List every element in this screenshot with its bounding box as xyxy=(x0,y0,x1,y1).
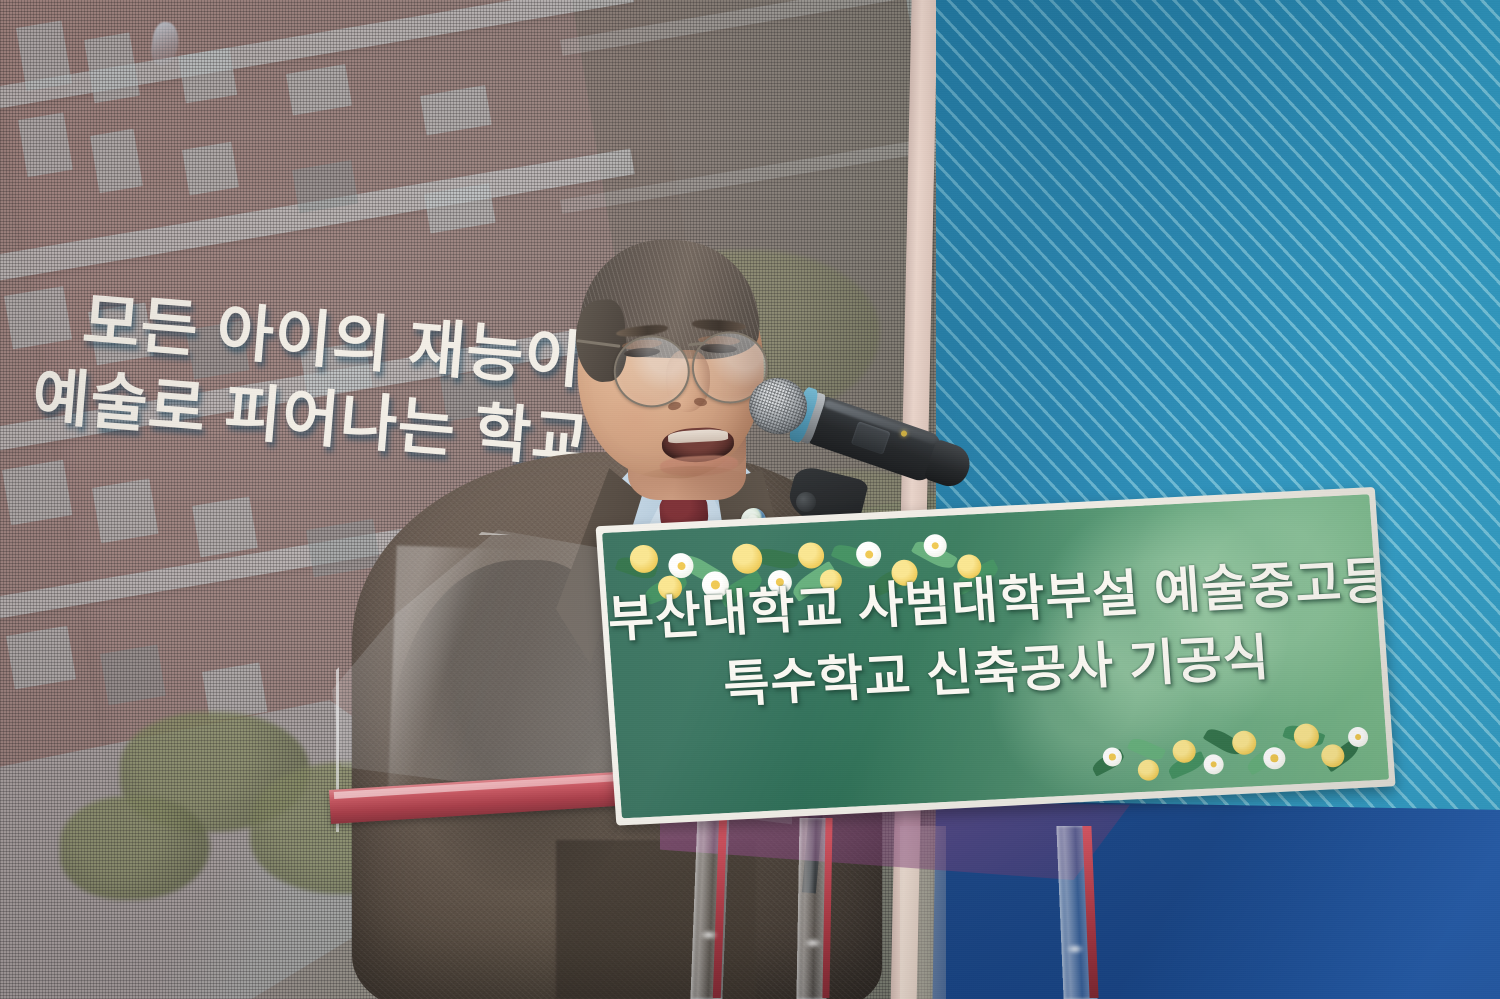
photo-canvas: 모든 아이의 재능이 예술로 피어나는 학교 xyxy=(0,0,1500,999)
podium-leg-glint xyxy=(804,938,822,948)
eyeglass-temple-arm xyxy=(577,339,621,347)
ceremony-sign-board: 부산대학교 사범대학부설 예술중고등 특수학교 신축공사 기공식 xyxy=(596,487,1396,826)
eyeglass-reflection xyxy=(149,20,181,67)
eyeglass-lens-left xyxy=(613,334,691,408)
sign-face: 부산대학교 사범대학부설 예술중고등 특수학교 신축공사 기공식 xyxy=(602,494,1389,818)
podium-leg-glint xyxy=(700,930,718,940)
podium-leg-glint xyxy=(1066,944,1084,954)
